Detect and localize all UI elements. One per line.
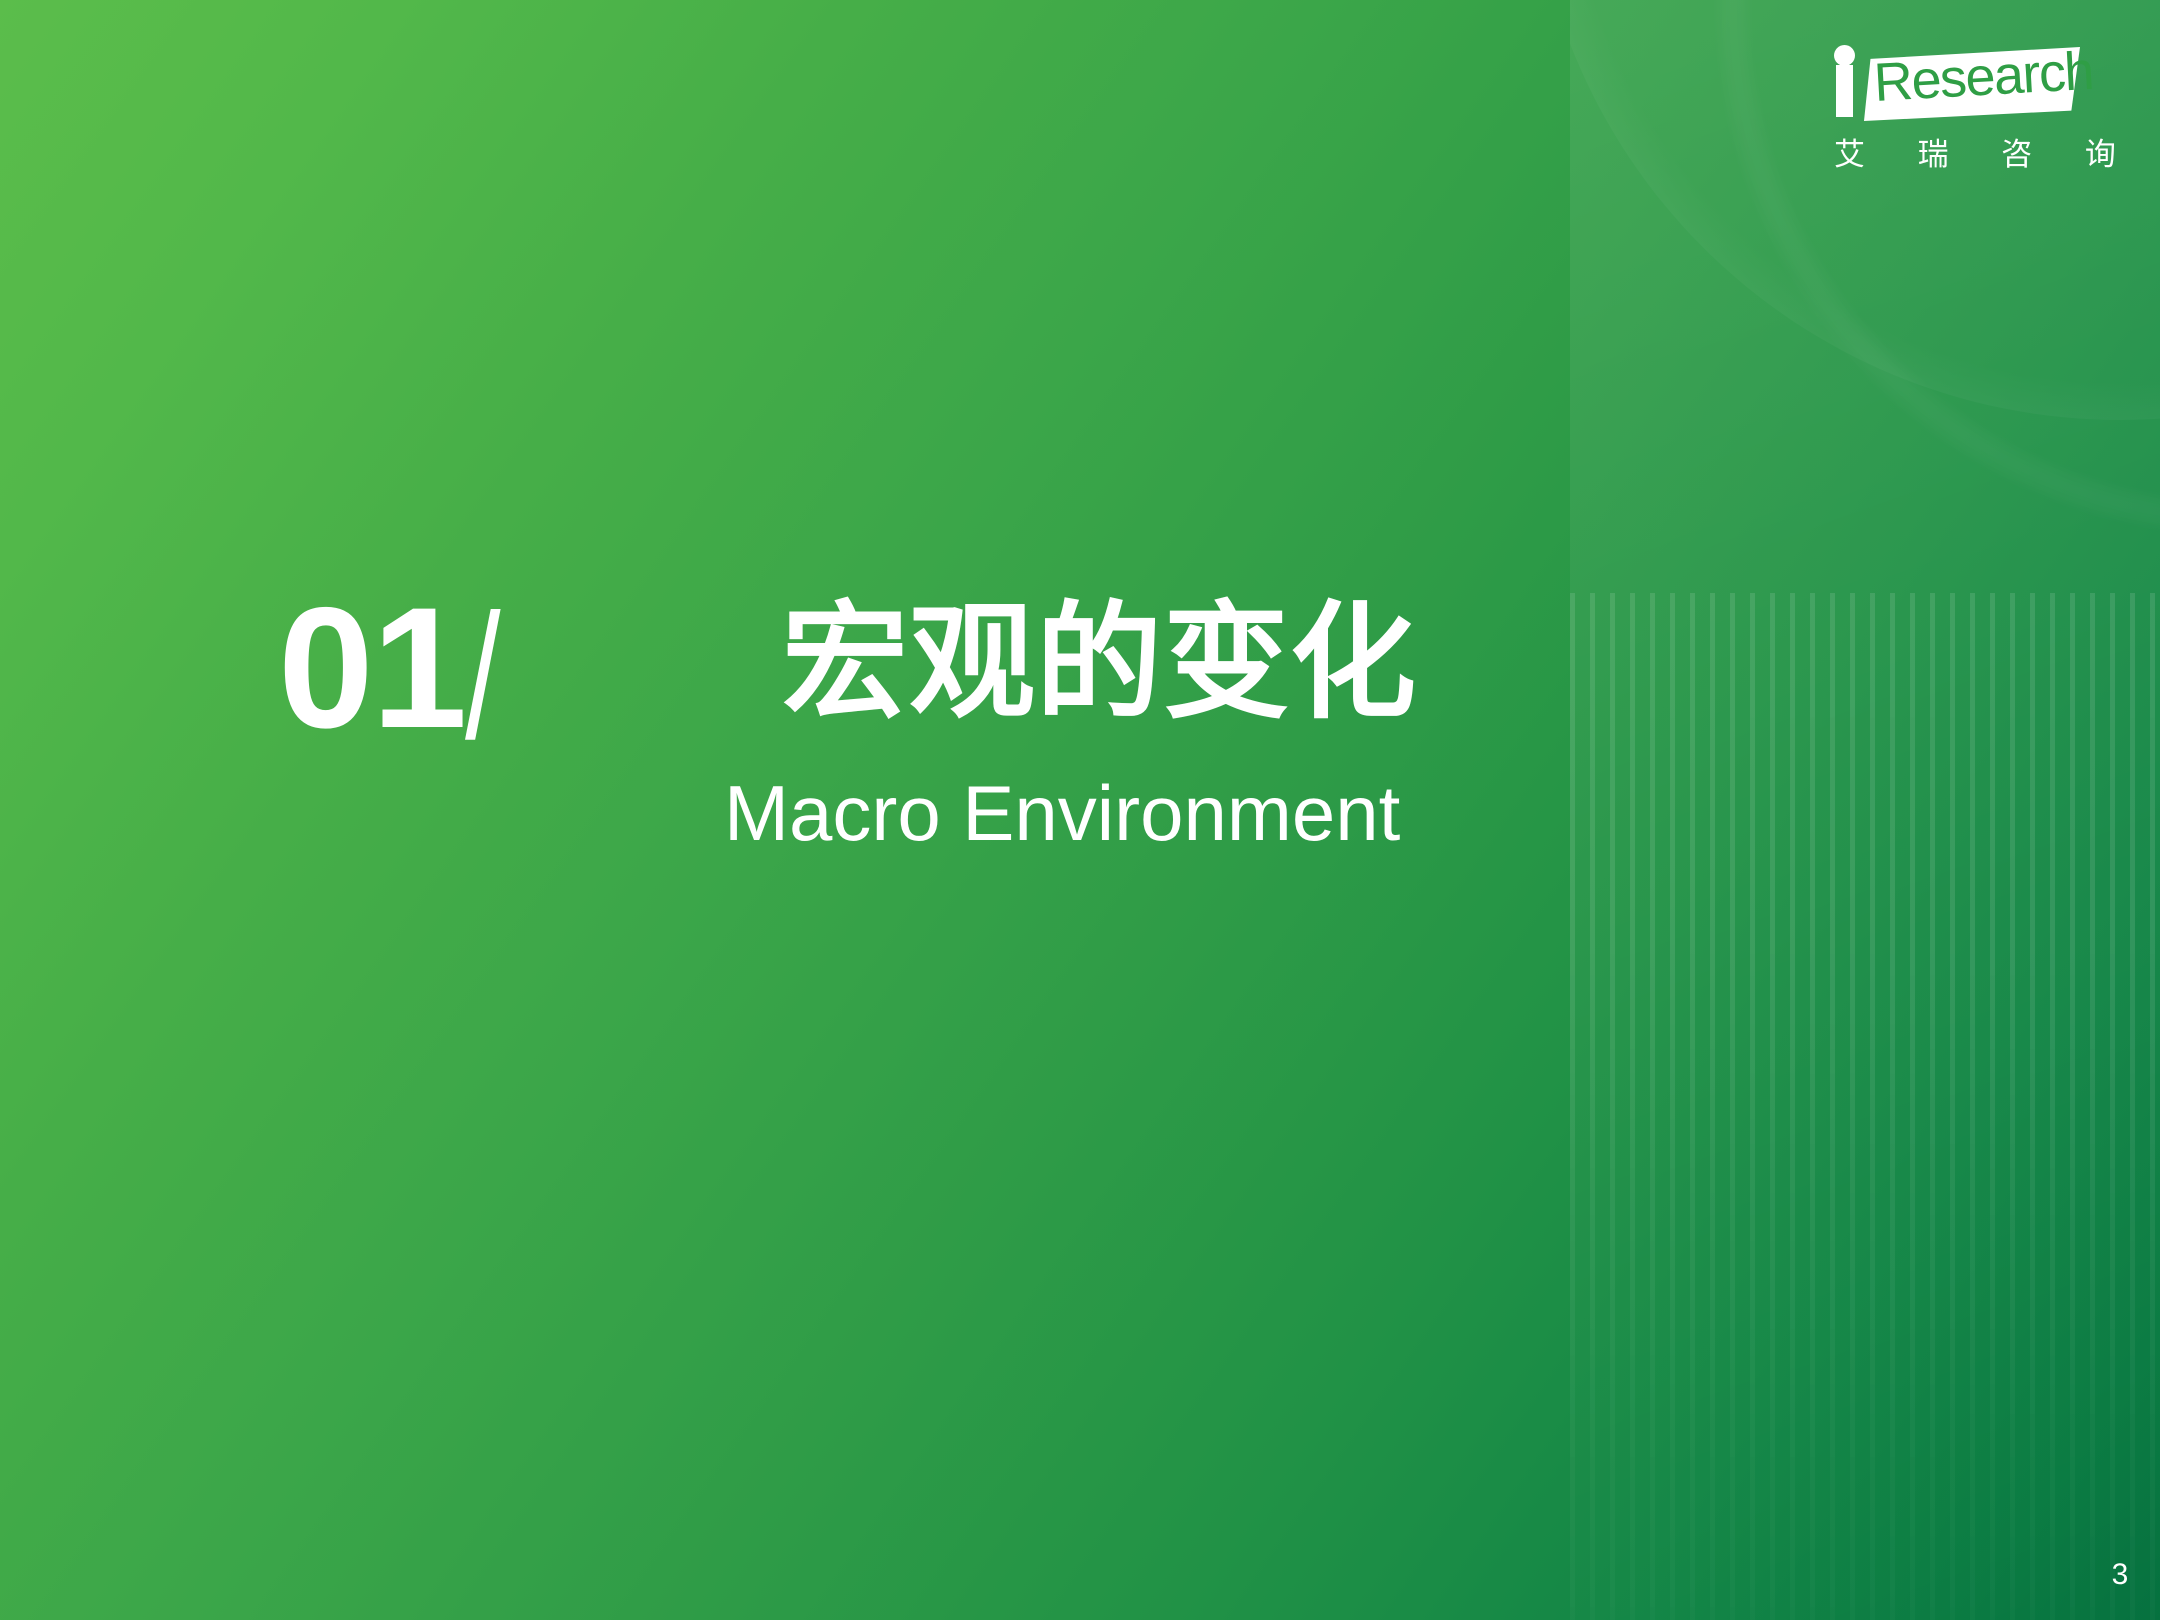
logo-i-stem-icon [1836,65,1853,117]
decorative-right-panel [1570,0,2160,1620]
section-title-english: Macro Environment [724,770,1400,856]
logo-wordmark: Research [1872,43,2081,112]
section-divider-slash: / [465,588,501,766]
logo-mark: Research [1830,45,2080,131]
section-number: 01 [278,582,465,754]
decorative-vertical-stripes [1570,593,2160,1620]
page-number: 3 [2100,1558,2140,1592]
slide-root: Research 艾 瑞 咨 询 01 / 宏观的变化 Macro Enviro… [0,0,2160,1620]
section-title-chinese: 宏观的变化 [782,598,1417,728]
iresearch-logo: Research 艾 瑞 咨 询 [1830,45,2080,175]
logo-chinese-name: 艾 瑞 咨 询 [1834,137,2138,173]
logo-i-dot-icon [1834,45,1855,66]
